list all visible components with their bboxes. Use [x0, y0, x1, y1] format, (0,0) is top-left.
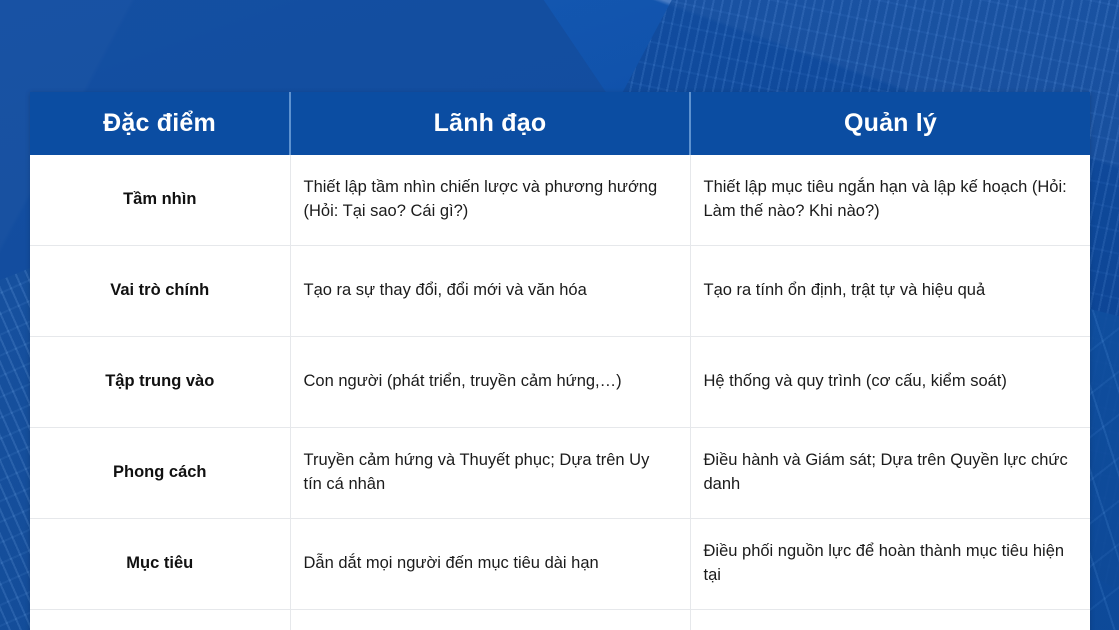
table-row: Vai trò chính Tạo ra sự thay đổi, đổi mớ… [30, 246, 1090, 337]
cell-leadership-phong-cach: Truyền cảm hứng và Thuyết phục; Dựa trên… [290, 428, 690, 519]
row-label-tam-nhin: Tầm nhìn [30, 155, 290, 246]
comparison-table: Đặc điểm Lãnh đạo Quản lý Tầm nhìn Thiết… [30, 92, 1090, 630]
table-row: Phong cách Truyền cảm hứng và Thuyết phụ… [30, 428, 1090, 519]
cell-management-phong-cach: Điều hành và Giám sát; Dựa trên Quyền lự… [690, 428, 1090, 519]
cell-management-muc-tieu: Điều phối nguồn lực để hoàn thành mục ti… [690, 519, 1090, 610]
slide-canvas: Đặc điểm Lãnh đạo Quản lý Tầm nhìn Thiết… [0, 0, 1119, 630]
table-header-row: Đặc điểm Lãnh đạo Quản lý [30, 92, 1090, 155]
cell-leadership-anh-huong: Khuyến khích sự cam kết và tự nguyện [290, 610, 690, 630]
table-body: Tầm nhìn Thiết lập tầm nhìn chiến lược v… [30, 155, 1090, 630]
cell-leadership-tam-nhin: Thiết lập tầm nhìn chiến lược và phương … [290, 155, 690, 246]
row-label-anh-huong: Ảnh hưởng [30, 610, 290, 630]
row-label-vai-tro-chinh: Vai trò chính [30, 246, 290, 337]
cell-management-tap-trung-vao: Hệ thống và quy trình (cơ cấu, kiểm soát… [690, 337, 1090, 428]
cell-management-tam-nhin: Thiết lập mục tiêu ngắn hạn và lập kế ho… [690, 155, 1090, 246]
column-header-feature: Đặc điểm [30, 92, 290, 155]
cell-management-anh-huong: Đảm bảo sự tuân thủ và trách nhiệm [690, 610, 1090, 630]
table-row: Tầm nhìn Thiết lập tầm nhìn chiến lược v… [30, 155, 1090, 246]
cell-leadership-vai-tro-chinh: Tạo ra sự thay đổi, đổi mới và văn hóa [290, 246, 690, 337]
cell-leadership-muc-tieu: Dẫn dắt mọi người đến mục tiêu dài hạn [290, 519, 690, 610]
column-header-management: Quản lý [690, 92, 1090, 155]
column-header-leadership: Lãnh đạo [290, 92, 690, 155]
row-label-tap-trung-vao: Tập trung vào [30, 337, 290, 428]
row-label-muc-tieu: Mục tiêu [30, 519, 290, 610]
comparison-table-container: Đặc điểm Lãnh đạo Quản lý Tầm nhìn Thiết… [30, 92, 1090, 630]
row-label-phong-cach: Phong cách [30, 428, 290, 519]
table-header: Đặc điểm Lãnh đạo Quản lý [30, 92, 1090, 155]
table-row: Mục tiêu Dẫn dắt mọi người đến mục tiêu … [30, 519, 1090, 610]
cell-leadership-tap-trung-vao: Con người (phát triển, truyền cảm hứng,…… [290, 337, 690, 428]
cell-management-vai-tro-chinh: Tạo ra tính ổn định, trật tự và hiệu quả [690, 246, 1090, 337]
table-row: Ảnh hưởng Khuyến khích sự cam kết và tự … [30, 610, 1090, 630]
table-row: Tập trung vào Con người (phát triển, tru… [30, 337, 1090, 428]
